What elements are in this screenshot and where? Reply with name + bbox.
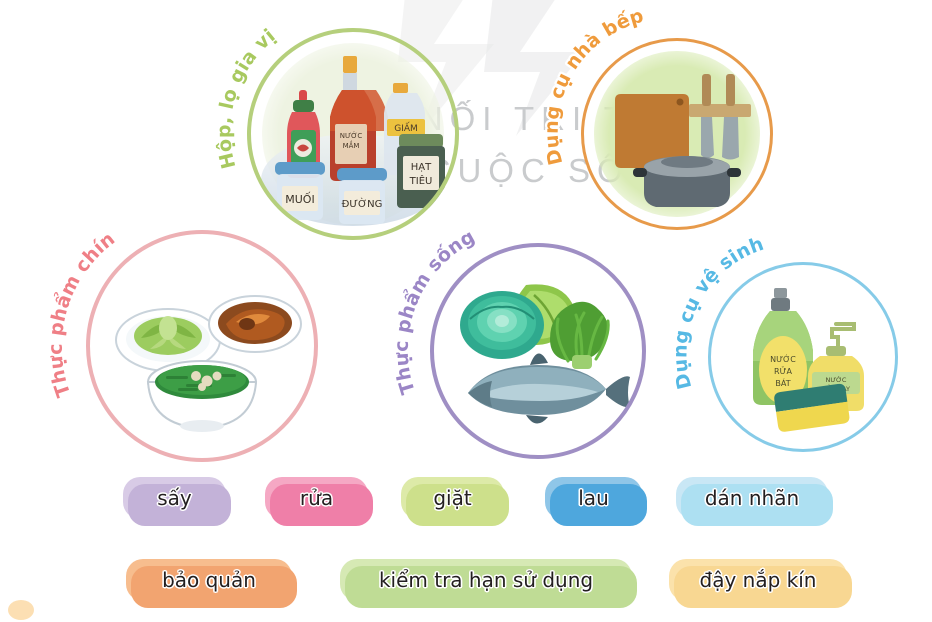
action-tag-rua[interactable]: rửa	[265, 477, 368, 519]
action-tag-day-nap[interactable]: đậy nắp kín	[669, 559, 847, 601]
action-tag-dan-nhan[interactable]: dán nhãn	[676, 477, 828, 519]
tag-label: sấy	[157, 486, 192, 510]
tag-label: lau	[578, 486, 609, 510]
tag-label: đậy nắp kín	[700, 568, 817, 592]
bubble-ring	[430, 243, 646, 459]
tag-label: kiểm tra hạn sử dụng	[379, 568, 593, 592]
action-tag-giat[interactable]: giặt	[401, 477, 504, 519]
tag-label: giặt	[433, 486, 471, 510]
group-bubble-thuc-pham-song[interactable]: Thực phẩm sống	[430, 243, 646, 459]
group-bubble-dung-cu-ve-sinh[interactable]: NƯỚC RỬA BÁT NƯỚC RỬA TAY	[708, 262, 898, 452]
action-tag-say[interactable]: sấy	[123, 477, 226, 519]
tag-label: rửa	[300, 486, 333, 510]
corner-decoration	[8, 600, 34, 620]
bubble-ring	[247, 28, 459, 240]
action-tag-bao-quan[interactable]: bảo quản	[126, 559, 292, 601]
action-tag-kiem-tra[interactable]: kiểm tra hạn sử dụng	[340, 559, 632, 601]
tag-label: bảo quản	[162, 568, 256, 592]
bubble-ring	[708, 262, 898, 452]
bubble-ring	[581, 38, 773, 230]
group-bubble-thuc-pham-chin[interactable]: Thực phẩm chín	[86, 230, 318, 462]
group-bubble-dung-cu-nha-bep[interactable]: Dụng cụ nhà bếp	[581, 38, 773, 230]
action-tag-lau[interactable]: lau	[545, 477, 642, 519]
group-bubble-hop-lo-gia-vi[interactable]: NƯỚC MẮM GIẤM HẠT TIÊU	[247, 28, 459, 240]
tag-label: dán nhãn	[705, 486, 799, 510]
bubble-ring	[86, 230, 318, 462]
worksheet-page: KẾT NỐI TRI THỨC VỚI CUỘC SỐNG	[0, 0, 932, 622]
